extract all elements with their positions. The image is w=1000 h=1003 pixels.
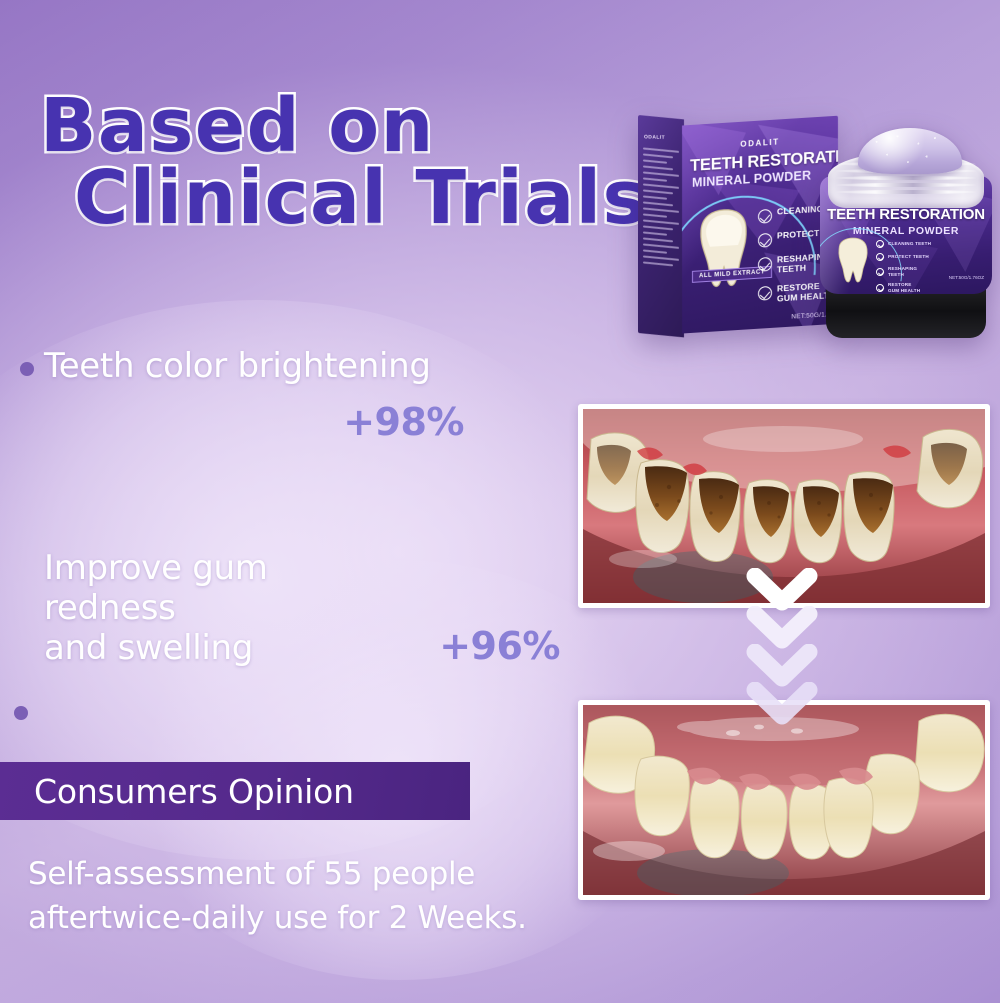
before-after-comparison bbox=[578, 404, 990, 900]
transformation-arrows bbox=[740, 568, 824, 744]
jar-feature-label: PROTECT TEETH bbox=[888, 254, 929, 260]
carton-side-text-lines bbox=[643, 147, 679, 270]
headline-line-2: Clinical Trials bbox=[40, 164, 648, 232]
benefit-percent: +98% bbox=[44, 400, 560, 444]
check-icon bbox=[876, 268, 884, 276]
jar-feature-list: CLEANING TEETH PROTECT TEETH RESHAPING T… bbox=[876, 240, 931, 294]
check-icon bbox=[876, 240, 884, 248]
check-icon bbox=[758, 233, 772, 248]
product-shot: ODALIT ODALIT TEETH RESTORATION MINERAL … bbox=[630, 100, 1000, 348]
jar-net-weight: NET:50G/1.76OZ bbox=[949, 275, 984, 280]
benefit-label: Improve gum redness and swelling bbox=[44, 548, 371, 668]
benefit-item-brightening: Teeth color brightening +98% bbox=[0, 346, 560, 444]
check-icon bbox=[758, 286, 772, 301]
jar-feature-item: CLEANING TEETH bbox=[876, 240, 931, 248]
benefits-list: Teeth color brightening +98% Improve gum… bbox=[0, 346, 560, 627]
product-jar: ODALIT TEETH RESTORATION MINERAL POWDER … bbox=[814, 126, 998, 338]
jar-feature-label: CLEANING TEETH bbox=[888, 241, 931, 247]
check-icon bbox=[758, 209, 772, 224]
headline: Based on Clinical Trials bbox=[40, 92, 648, 232]
jar-feature-label: RESTORE GUM HEALTH bbox=[888, 282, 920, 293]
headline-line-1: Based on bbox=[40, 92, 648, 160]
product-carton: ODALIT ODALIT TEETH RESTORATION MINERAL … bbox=[638, 116, 838, 337]
check-icon bbox=[876, 253, 884, 261]
jar-title: TEETH RESTORATION bbox=[820, 206, 992, 223]
consumers-opinion-label: Consumers Opinion bbox=[0, 772, 354, 811]
powder-mound bbox=[858, 128, 962, 174]
jar-feature-item: RESTORE GUM HEALTH bbox=[876, 282, 931, 293]
benefit-label: Teeth color brightening bbox=[44, 346, 431, 386]
jar-feature-item: PROTECT TEETH bbox=[876, 253, 931, 261]
benefit-item-gum-redness: Improve gum redness and swelling +96% bbox=[0, 548, 560, 668]
poster-canvas: Based on Clinical Trials ODALIT ODALIT T… bbox=[0, 0, 1000, 1003]
carton-side-panel: ODALIT bbox=[638, 115, 684, 337]
tooth-icon bbox=[836, 236, 870, 284]
benefit-row: Improve gum redness and swelling +96% bbox=[44, 548, 560, 668]
chevron-down-icon bbox=[743, 682, 821, 736]
carton-side-brand: ODALIT bbox=[644, 134, 665, 141]
check-icon bbox=[758, 257, 772, 272]
bullet-dot-icon bbox=[20, 362, 34, 376]
jar-feature-item: RESHAPING TEETH bbox=[876, 266, 931, 277]
benefit-percent: +96% bbox=[439, 624, 560, 668]
check-icon bbox=[876, 284, 884, 292]
consumers-opinion-banner: Consumers Opinion bbox=[0, 762, 470, 820]
bullet-dot-icon bbox=[14, 706, 28, 720]
consumers-footnote: Self-assessment of 55 people aftertwice-… bbox=[28, 852, 608, 940]
jar-feature-label: RESHAPING TEETH bbox=[888, 266, 917, 277]
